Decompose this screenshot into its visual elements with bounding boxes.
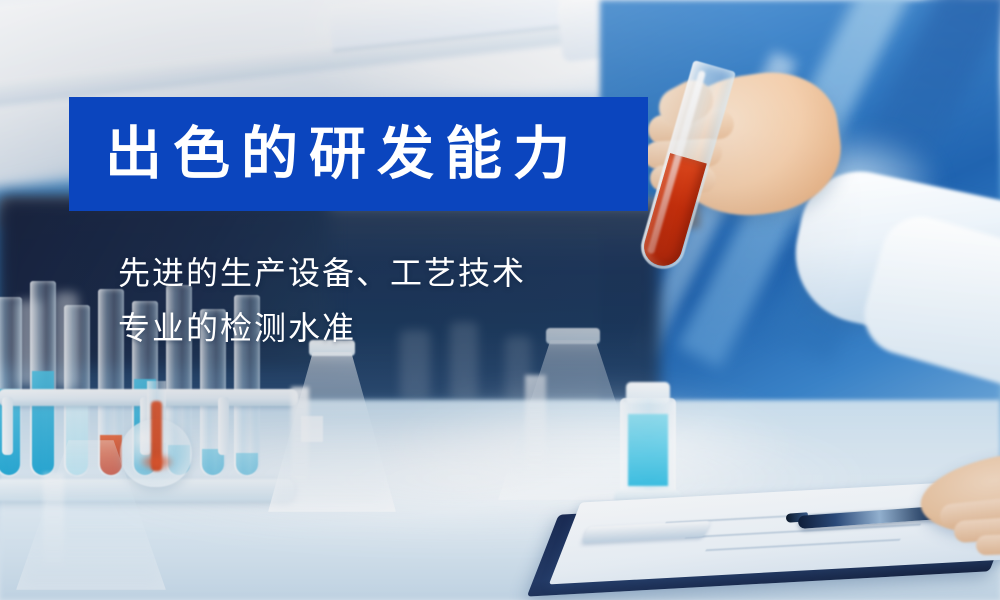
headline-banner-box: 出色的研发能力 bbox=[69, 97, 648, 211]
erlenmeyer-flask bbox=[16, 440, 166, 590]
headline-text: 出色的研发能力 bbox=[69, 126, 581, 183]
flask-highlight bbox=[43, 473, 64, 566]
flask-body bbox=[16, 440, 166, 590]
subtitle-line-2: 专业的检测水准 bbox=[118, 301, 526, 356]
flask-label bbox=[301, 416, 323, 442]
hand-resting-on-clipboard bbox=[900, 444, 1000, 554]
rack-post bbox=[2, 397, 13, 455]
erlenmeyer-flask bbox=[268, 352, 396, 512]
hand-holding-test-tube bbox=[630, 50, 1000, 380]
rack-post bbox=[218, 397, 229, 455]
subtitle-line-1: 先进的生产设备、工艺技术 bbox=[118, 246, 526, 301]
lab-rd-hero-banner: 出色的研发能力 先进的生产设备、工艺技术 专业的检测水准 bbox=[0, 0, 1000, 600]
cyan-liquid bbox=[628, 414, 668, 486]
flask-body bbox=[268, 352, 396, 512]
finger bbox=[976, 533, 1000, 556]
subtitle-block: 先进的生产设备、工艺技术 专业的检测水准 bbox=[118, 246, 526, 356]
clipboard-with-paper bbox=[548, 480, 1000, 600]
flask-highlight bbox=[525, 375, 546, 474]
